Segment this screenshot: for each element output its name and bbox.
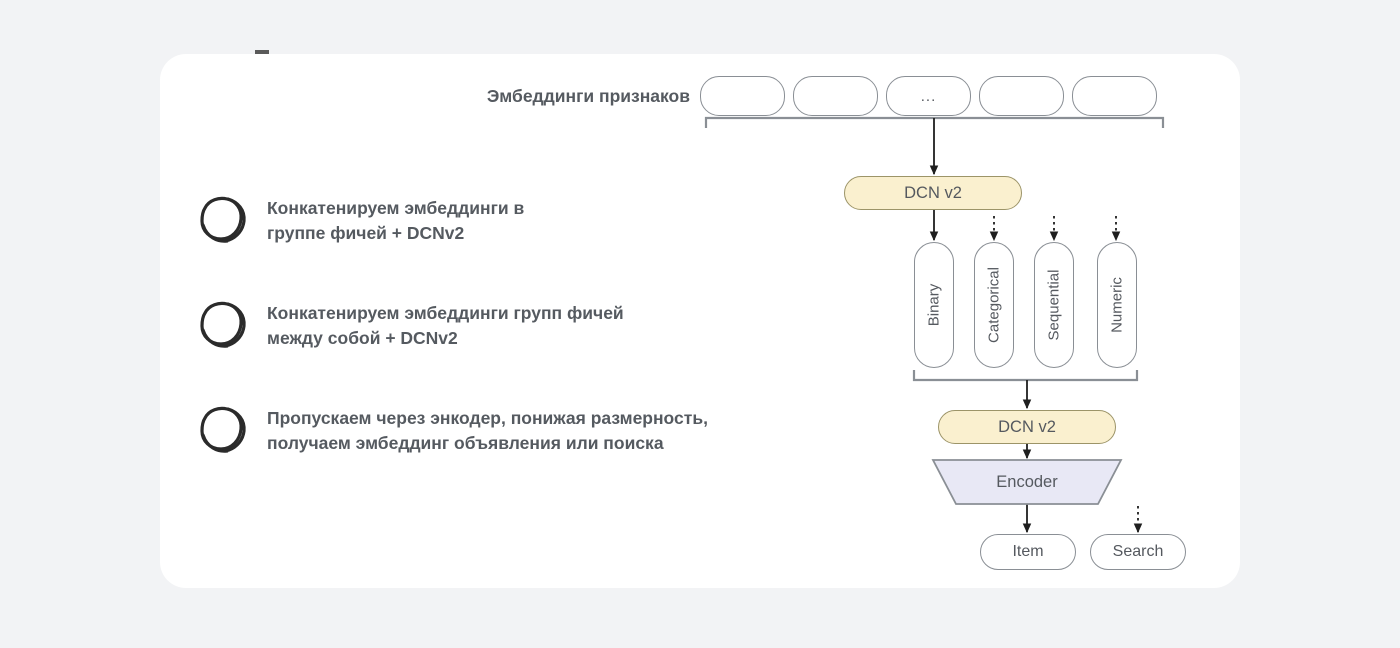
feature-group-sequential: Sequential xyxy=(1034,242,1074,368)
output-item: Item xyxy=(980,534,1076,570)
feature-group-label: Numeric xyxy=(1109,277,1126,333)
dcn-v2-node-top: DCN v2 xyxy=(844,176,1022,210)
architecture-diagram: Эмбеддинги признаков ... DCN v2 Binary C… xyxy=(160,54,1240,588)
feature-group-numeric: Numeric xyxy=(1097,242,1137,368)
encoder-label: Encoder xyxy=(933,460,1121,504)
feature-group-categorical: Categorical xyxy=(974,242,1014,368)
feature-embeddings-label: Эмбеддинги признаков xyxy=(487,86,690,107)
feature-embedding-box-ellipsis: ... xyxy=(886,76,971,116)
encoder-node: Encoder xyxy=(933,460,1121,504)
slide-card: Конкатенируем эмбеддинги в группе фичей … xyxy=(160,54,1240,588)
feature-embedding-box xyxy=(793,76,878,116)
diagram-connectors xyxy=(160,54,1240,588)
feature-embedding-box xyxy=(979,76,1064,116)
feature-group-label: Sequential xyxy=(1046,270,1063,341)
feature-group-binary: Binary xyxy=(914,242,954,368)
feature-group-label: Binary xyxy=(926,284,943,327)
dcn-v2-node-bottom: DCN v2 xyxy=(938,410,1116,444)
output-search: Search xyxy=(1090,534,1186,570)
feature-embedding-box xyxy=(700,76,785,116)
feature-embedding-row: ... xyxy=(700,76,1157,116)
feature-embedding-box xyxy=(1072,76,1157,116)
feature-group-label: Categorical xyxy=(986,267,1003,343)
